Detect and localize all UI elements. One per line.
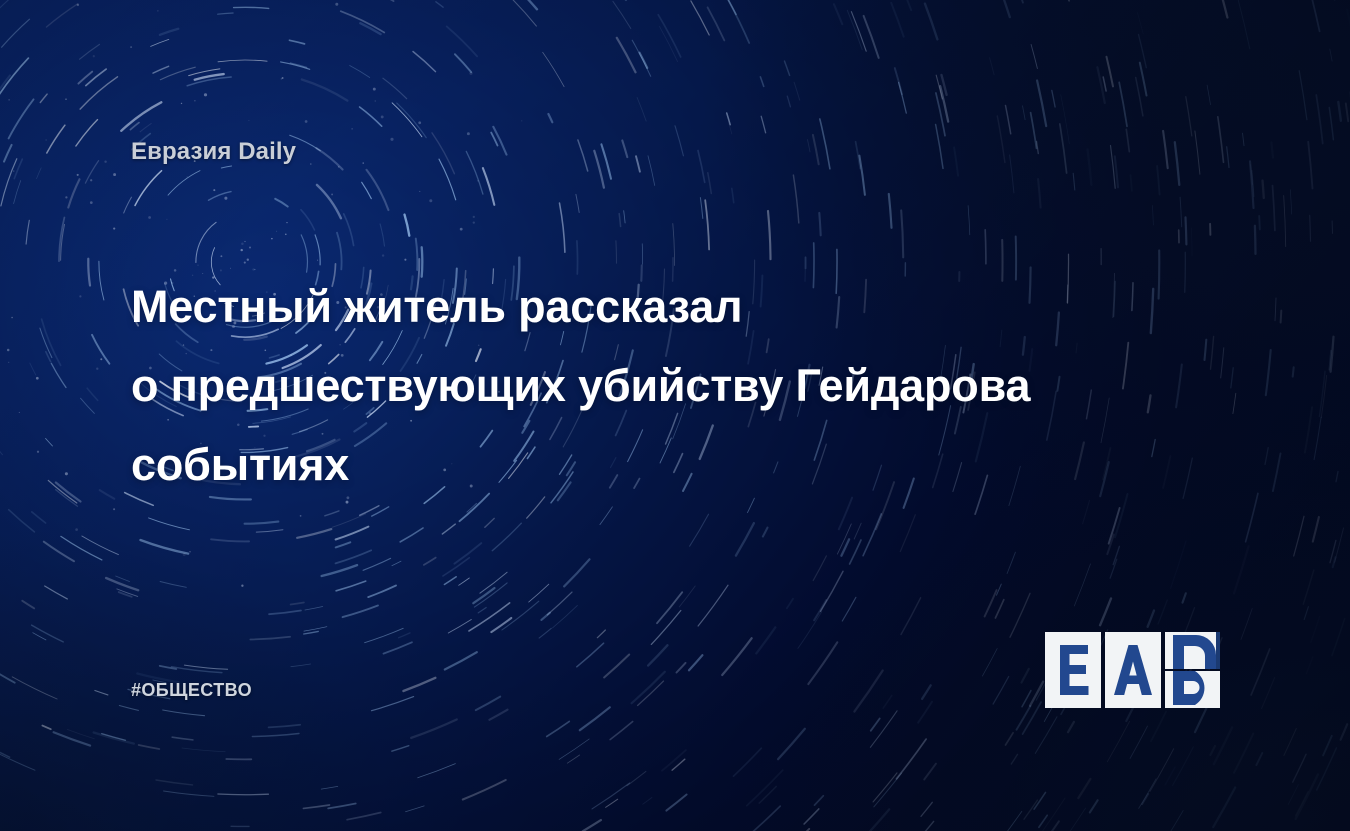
headline: Местный житель рассказал о предшествующи… — [131, 267, 1241, 504]
card-content: Евразия Daily Местный житель рассказал о… — [0, 0, 1350, 831]
headline-line: Местный житель рассказал — [131, 267, 1241, 346]
logo-overflow-mark — [1216, 632, 1220, 669]
brand-name: Евразия Daily — [131, 138, 296, 166]
category-tag[interactable]: #ОБЩЕСТВО — [131, 680, 252, 701]
news-share-card: Евразия Daily Местный житель рассказал о… — [0, 0, 1350, 831]
headline-line: событиях — [131, 425, 1241, 504]
headline-line: о предшествующих убийству Гейдарова — [131, 346, 1241, 425]
logo-tile-a — [1105, 632, 1161, 708]
ead-logo[interactable] — [1045, 631, 1220, 709]
logo-letter-e — [1060, 645, 1089, 695]
